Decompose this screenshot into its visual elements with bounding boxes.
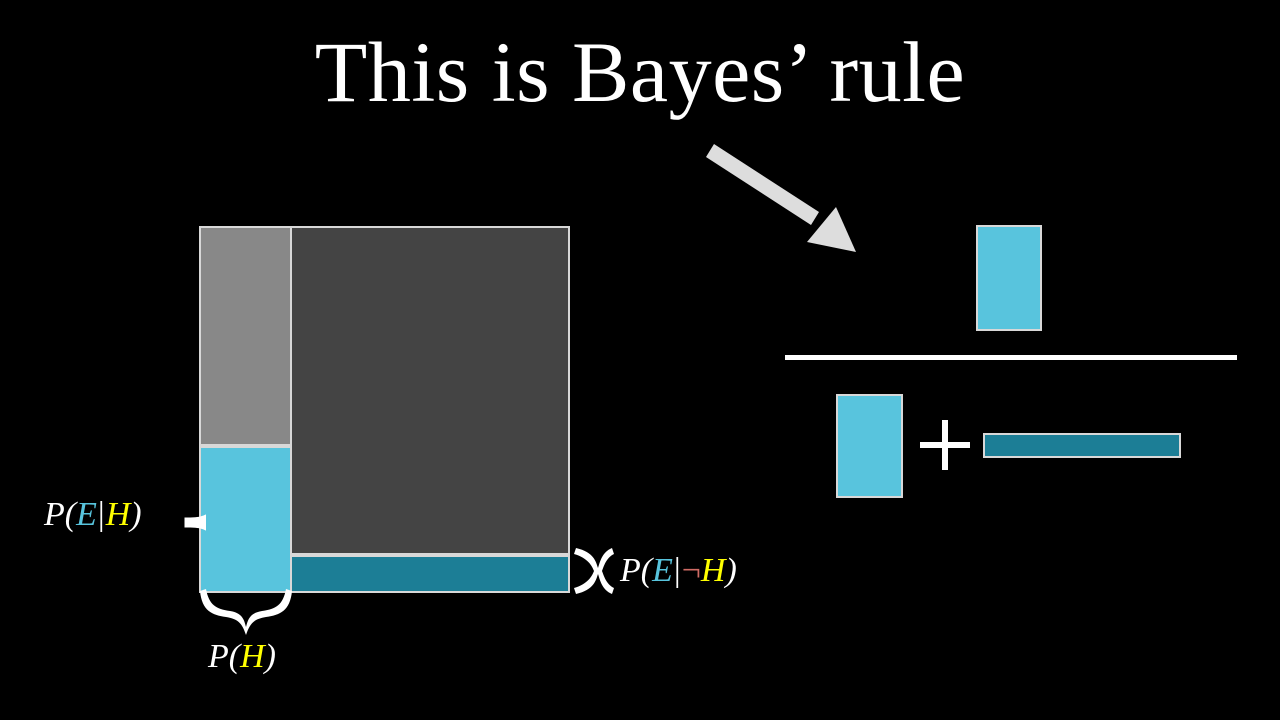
plus-sign-icon <box>920 420 970 470</box>
fraction-bar <box>785 355 1237 360</box>
numerator-bar-evidence-and-hypothesis <box>976 225 1042 331</box>
bayes-fraction <box>0 0 1280 720</box>
bayes-rule-scene: This is Bayes’ rule { P(E|H) P(E|¬H) P(H… <box>0 0 1280 720</box>
denominator-bar-evidence-and-hypothesis <box>836 394 903 498</box>
denominator-bar-evidence-and-not-hypothesis <box>983 433 1181 458</box>
plus-vertical-stroke <box>942 420 948 470</box>
